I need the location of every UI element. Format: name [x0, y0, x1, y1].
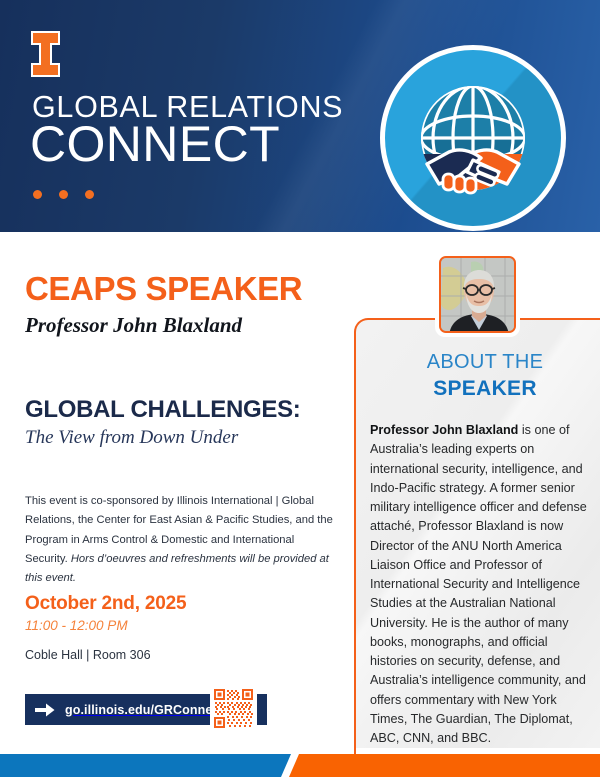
arrow-right-icon: [25, 703, 65, 717]
brand-line-connect: CONNECT: [30, 119, 280, 169]
poster-footer: [0, 754, 600, 777]
illinois-block-i-icon: [31, 31, 60, 77]
speaker-bio-rest: is one of Australia’s leading experts on…: [370, 423, 587, 745]
footer-bar-blue: [0, 754, 300, 777]
dot-2: [59, 190, 68, 199]
about-heading-line1: ABOUT THE: [354, 352, 600, 372]
dot-3: [85, 190, 94, 199]
speaker-headshot-image: [439, 256, 516, 333]
talk-title: GLOBAL CHALLENGES:: [25, 398, 301, 422]
speaker-bio: Professor John Blaxland is one of Austra…: [370, 421, 594, 749]
globe-handshake-emblem-icon: [380, 45, 566, 231]
cosponsor-block: This event is co-sponsored by Illinois I…: [25, 492, 337, 588]
event-poster: GLOBAL RELATIONS CONNECT: [0, 0, 600, 777]
kicker-ceaps-speaker: CEAPS SPEAKER: [25, 272, 302, 305]
registration-url-text: go.illinois.edu/GRConnect: [65, 703, 224, 717]
presenter-name: Professor John Blaxland: [25, 314, 242, 337]
decorative-dots: [33, 190, 94, 199]
event-date: October 2nd, 2025: [25, 594, 186, 613]
speaker-bio-lead: Professor John Blaxland: [370, 423, 518, 437]
about-heading-line2: SPEAKER: [354, 378, 600, 399]
qr-code-icon[interactable]: [210, 685, 257, 732]
speaker-headshot: [435, 252, 520, 337]
poster-header: GLOBAL RELATIONS CONNECT: [0, 0, 600, 232]
talk-subtitle: The View from Down Under: [25, 428, 238, 449]
refreshments-text: Hors d’oeuvres and refreshments will be …: [25, 553, 329, 584]
event-venue: Coble Hall | Room 306: [25, 649, 151, 662]
event-time: 11:00 - 12:00 PM: [25, 619, 128, 633]
dot-1: [33, 190, 42, 199]
